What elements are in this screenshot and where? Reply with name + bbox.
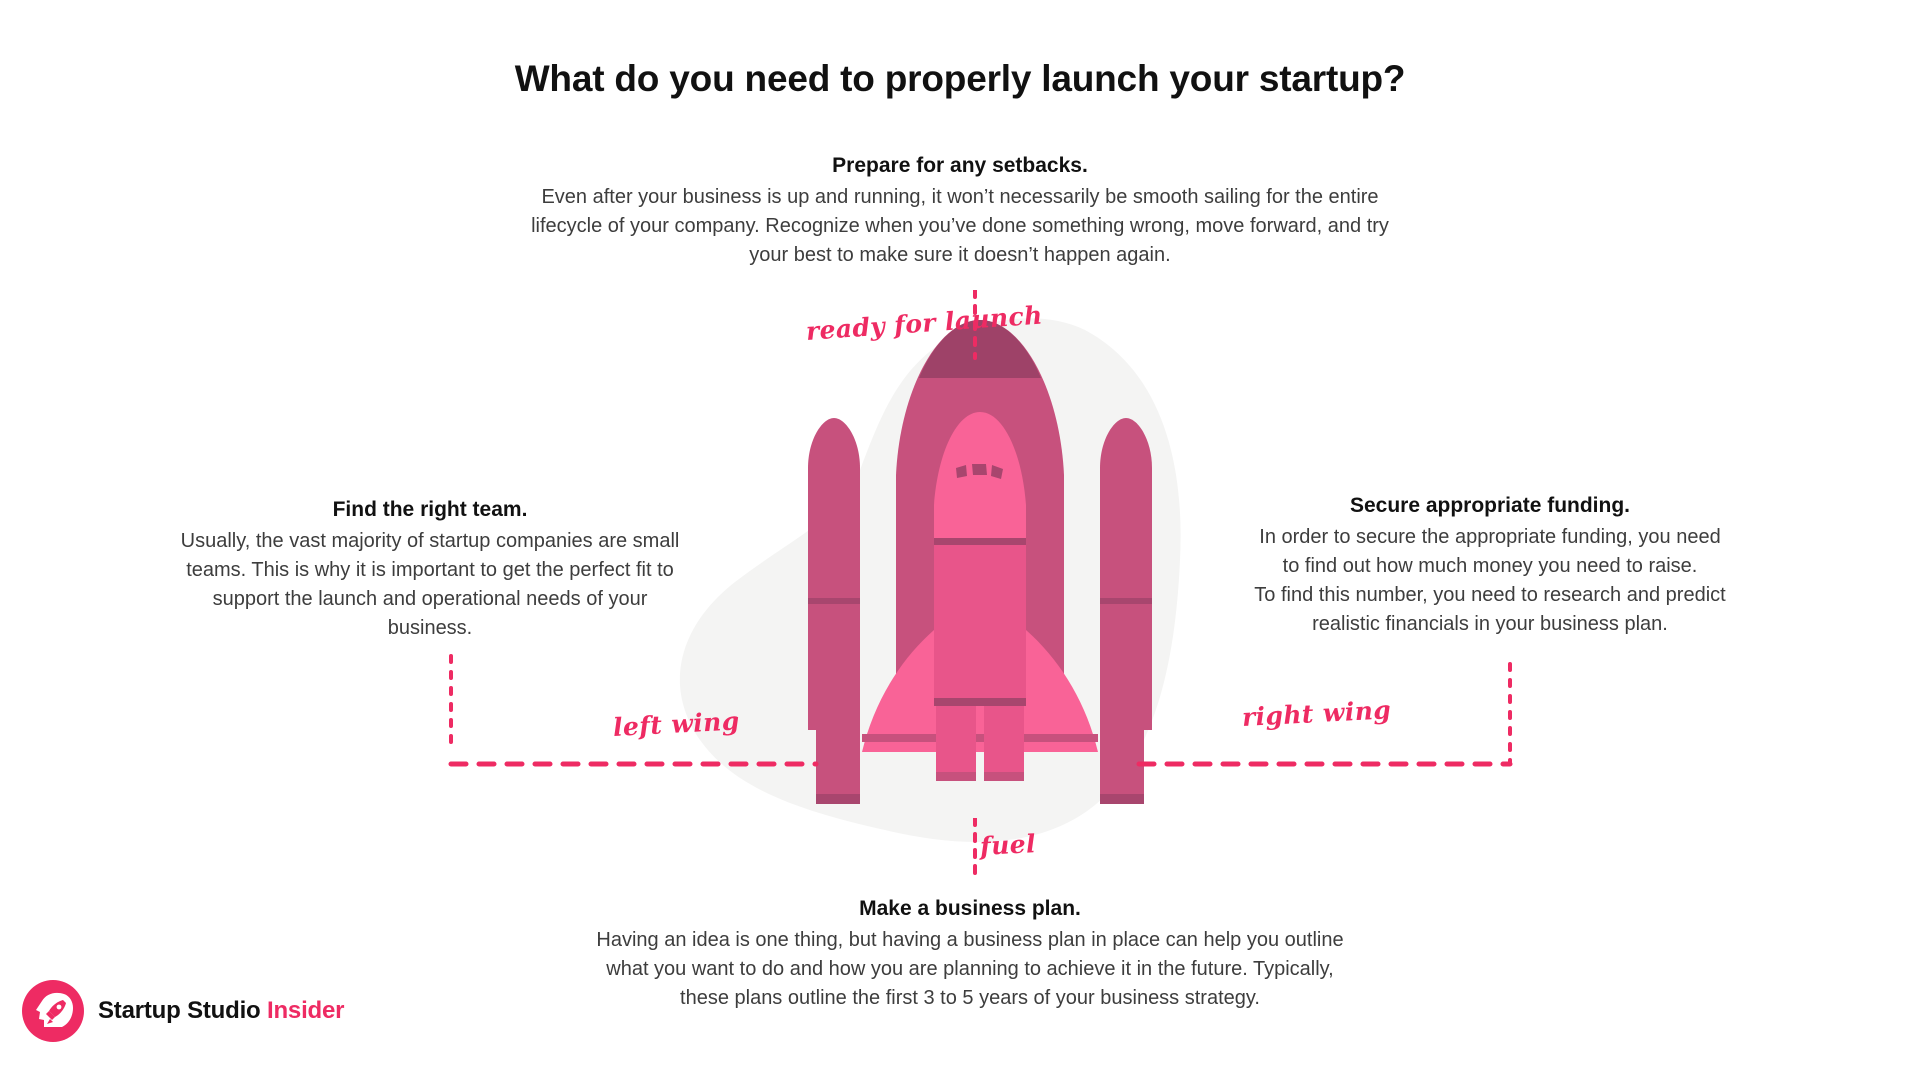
brand-logo[interactable]: Startup Studio Insider [22,980,344,1042]
section-heading-plan: Make a business plan. [520,895,1420,923]
body-line: Having an idea is one thing, but having … [520,926,1420,955]
section-body-setbacks: Even after your business is up and runni… [420,183,1500,270]
section-prepare-for-setbacks: Prepare for any setbacks. Even after you… [420,152,1500,270]
body-line: these plans outline the first 3 to 5 yea… [520,984,1420,1013]
body-line: lifecycle of your company. Recognize whe… [420,212,1500,241]
body-line: realistic financials in your business pl… [1180,610,1800,639]
section-body-funding: In order to secure the appropriate fundi… [1180,523,1800,639]
rocket-head-icon [22,980,84,1042]
brand-logo-text: Startup Studio Insider [98,997,344,1025]
body-line: To find this number, you need to researc… [1180,581,1800,610]
rocket-illustration [760,300,1200,860]
infographic-canvas: What do you need to properly launch your… [0,0,1920,1080]
brand-name-accent: Insider [267,997,344,1024]
callout-fuel: fuel [979,829,1036,861]
body-line: support the launch and operational needs… [120,585,740,614]
body-line: In order to secure the appropriate fundi… [1180,523,1800,552]
brand-name-primary: Startup Studio [98,997,261,1024]
body-line: Even after your business is up and runni… [420,183,1500,212]
body-line: teams. This is why it is important to ge… [120,556,740,585]
section-body-team: Usually, the vast majority of startup co… [120,527,740,643]
section-body-plan: Having an idea is one thing, but having … [520,926,1420,1013]
section-heading-setbacks: Prepare for any setbacks. [420,152,1500,180]
page-title: What do you need to properly launch your… [0,58,1920,100]
body-line: what you want to do and how you are plan… [520,955,1420,984]
section-make-a-business-plan: Make a business plan. Having an idea is … [520,895,1420,1013]
section-secure-appropriate-funding: Secure appropriate funding. In order to … [1180,492,1800,639]
body-line: to find out how much money you need to r… [1180,552,1800,581]
section-heading-funding: Secure appropriate funding. [1180,492,1800,520]
section-heading-team: Find the right team. [120,496,740,524]
body-line: your best to make sure it doesn’t happen… [420,241,1500,270]
section-find-the-right-team: Find the right team. Usually, the vast m… [120,496,740,643]
body-line: Usually, the vast majority of startup co… [120,527,740,556]
body-line: business. [120,614,740,643]
